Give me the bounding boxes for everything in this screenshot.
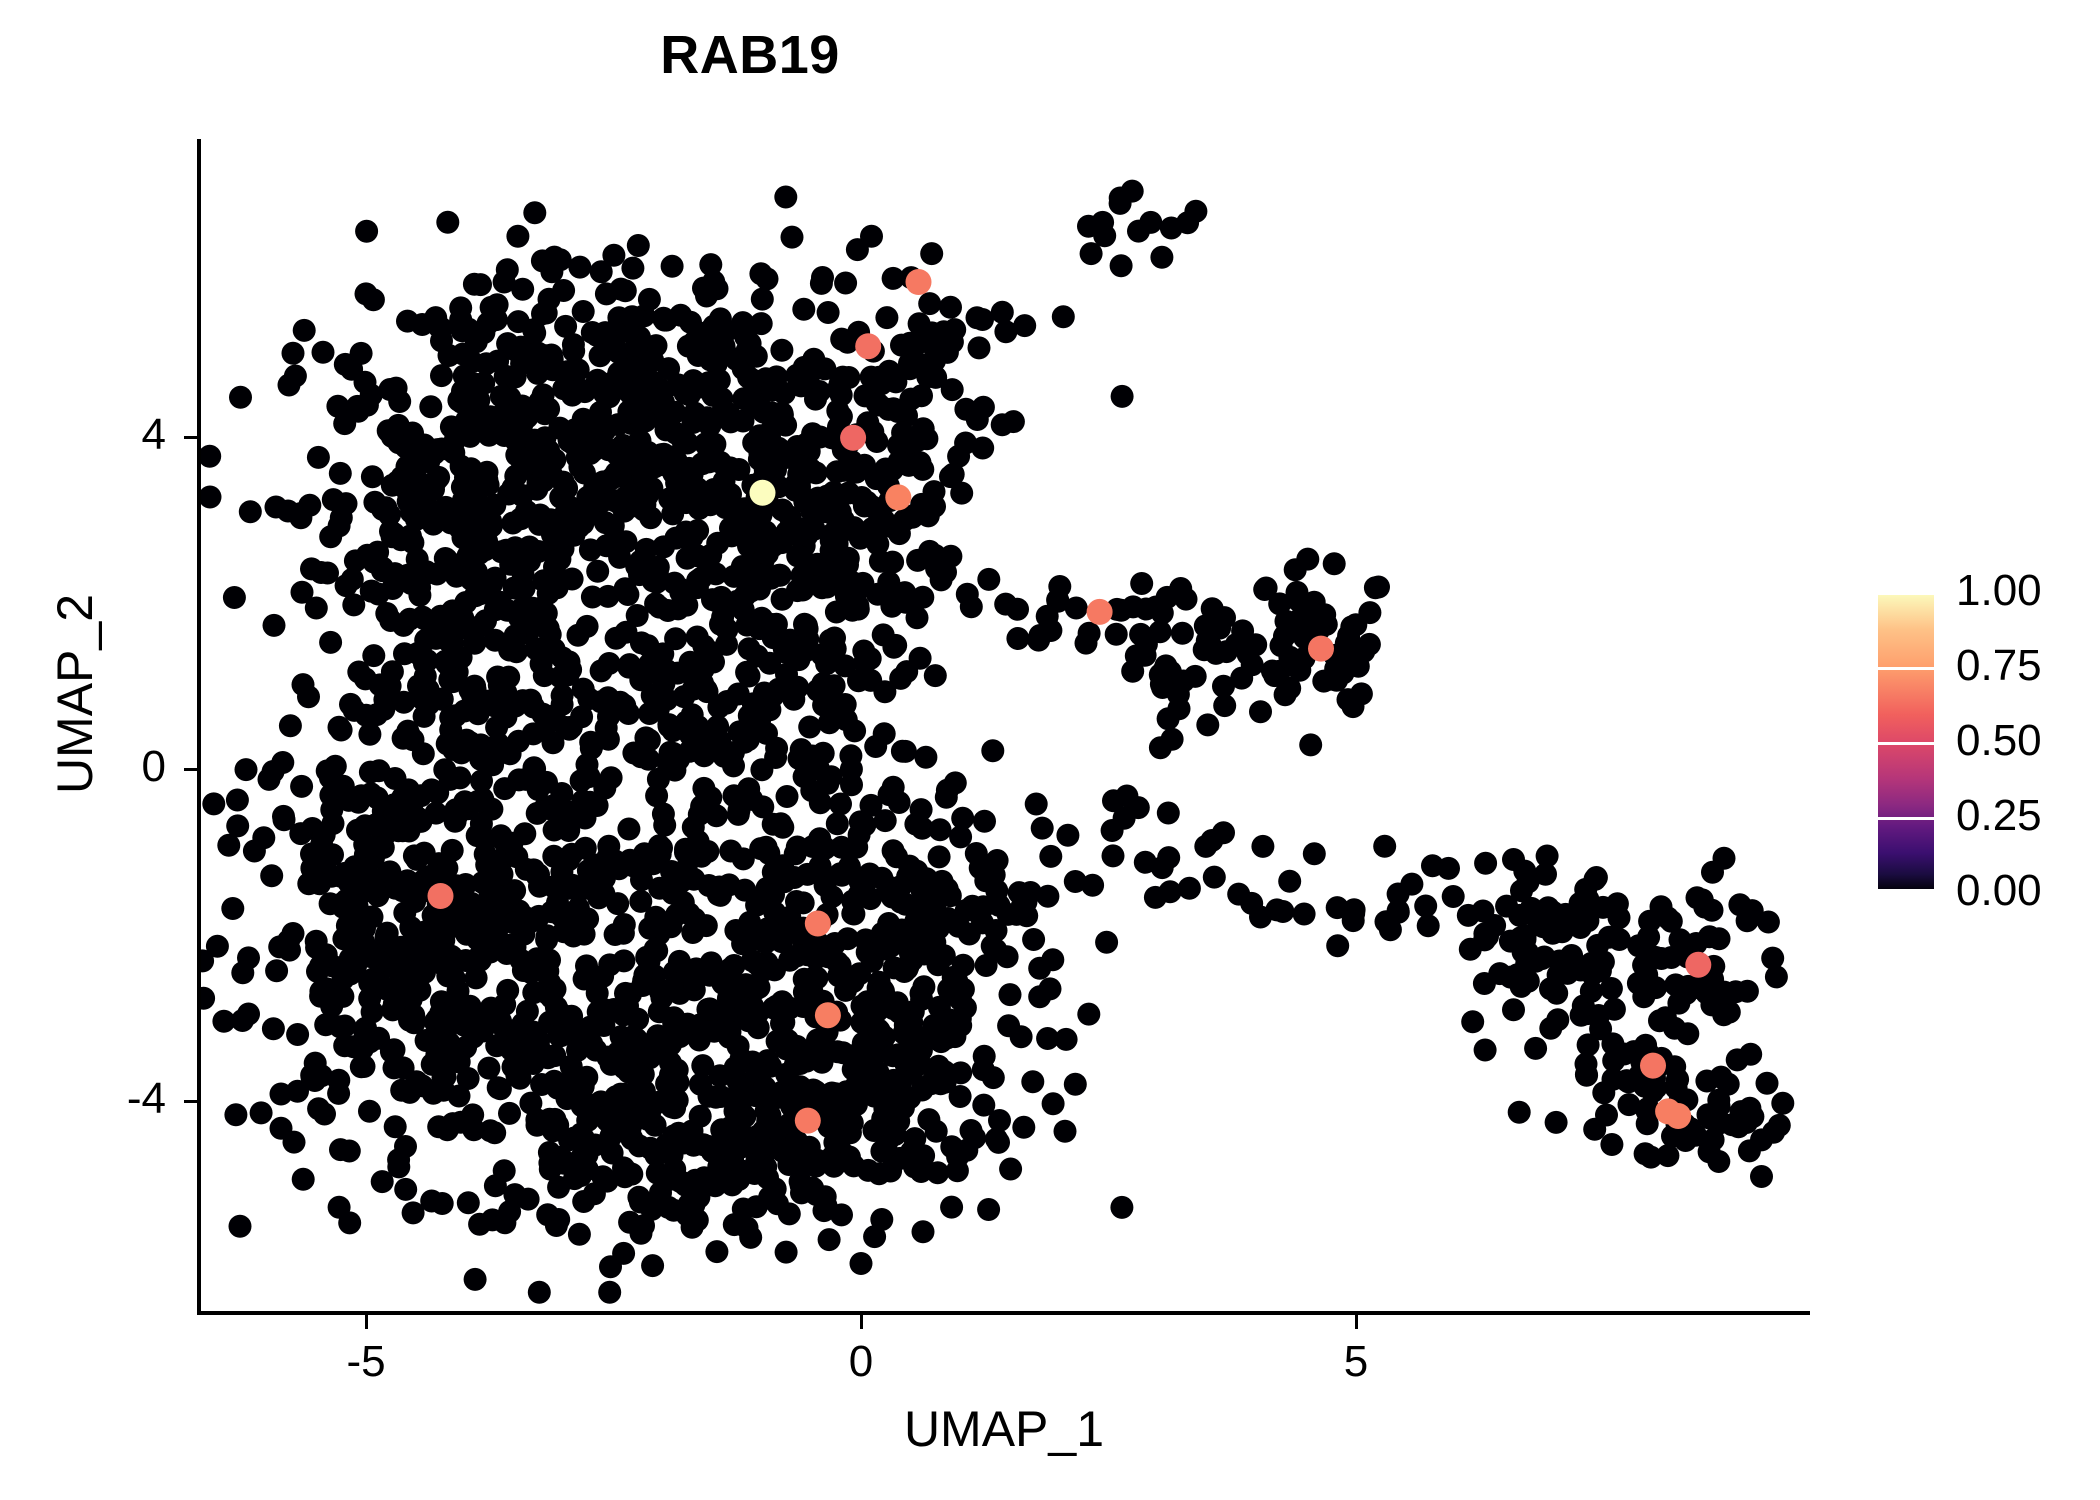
scatter-point: [1570, 1004, 1593, 1027]
scatter-point: [1554, 903, 1577, 926]
scatter-point-highlighted: [805, 911, 831, 937]
scatter-point: [873, 680, 896, 703]
scatter-point: [664, 627, 687, 650]
scatter-point: [772, 1011, 795, 1034]
scatter-point: [563, 1126, 586, 1149]
scatter-point: [737, 1009, 760, 1032]
scatter-point: [406, 642, 429, 665]
scatter-point: [576, 753, 599, 776]
scatter-point: [381, 425, 404, 448]
scatter-point: [840, 758, 863, 781]
scatter-point: [306, 960, 329, 983]
scatter-point: [1006, 598, 1029, 621]
scatter-point: [327, 1069, 350, 1092]
scatter-point: [708, 1064, 731, 1087]
scatter-point: [1502, 998, 1525, 1021]
scatter-point: [928, 845, 951, 868]
scatter-point: [1757, 911, 1780, 934]
scatter-point: [1056, 824, 1079, 847]
scatter-point: [1102, 789, 1125, 812]
scatter-point: [231, 1009, 254, 1032]
scatter-point: [891, 421, 914, 444]
x-axis-line: [197, 1311, 1810, 1315]
scatter-point: [1750, 1165, 1773, 1188]
scatter-point: [292, 1168, 315, 1191]
scatter-point: [412, 742, 435, 765]
scatter-point: [719, 957, 742, 980]
scatter-point: [453, 1014, 476, 1037]
scatter-point: [812, 1026, 835, 1049]
x-tick-mark: [1355, 1315, 1358, 1329]
scatter-point: [549, 248, 572, 271]
scatter-point: [372, 698, 395, 721]
scatter-point: [659, 1051, 682, 1074]
scatter-point: [297, 872, 320, 895]
scatter-point: [750, 504, 773, 527]
scatter-point: [522, 981, 545, 1004]
scatter-point: [1495, 895, 1518, 918]
scatter-point: [612, 359, 635, 382]
scatter-point: [899, 332, 922, 355]
scatter-point: [1514, 928, 1537, 951]
scatter-point: [1726, 1048, 1749, 1071]
scatter-point: [474, 829, 497, 852]
scatter-point: [549, 486, 572, 509]
scatter-point: [1632, 954, 1655, 977]
scatter-point: [601, 1142, 624, 1165]
scatter-point: [224, 1103, 247, 1126]
scatter-point: [459, 679, 482, 702]
scatter-point-highlighted: [1087, 599, 1113, 625]
scatter-point: [888, 791, 911, 814]
scatter-point: [1727, 1115, 1750, 1138]
scatter-point: [451, 380, 474, 403]
scatter-point: [914, 746, 937, 769]
scatter-point: [593, 777, 616, 800]
scatter-point: [693, 744, 716, 767]
scatter-point: [774, 186, 797, 209]
scatter-point: [912, 353, 935, 376]
scatter-point: [911, 458, 934, 481]
scatter-point: [1231, 619, 1254, 642]
scatter-point: [199, 445, 221, 468]
scatter-point: [479, 1119, 502, 1142]
scatter-point: [696, 840, 719, 863]
scatter-point: [605, 627, 628, 650]
scatter-point: [809, 855, 832, 878]
scatter-point: [262, 760, 285, 783]
scatter-point: [307, 1097, 330, 1120]
scatter-point: [1160, 217, 1183, 240]
colorbar-label: 0.50: [1956, 719, 2096, 763]
scatter-point: [1708, 927, 1731, 950]
scatter-point: [894, 740, 917, 763]
scatter-point: [617, 818, 640, 841]
scatter-point: [682, 678, 705, 701]
scatter-point: [798, 716, 821, 739]
scatter-point: [652, 672, 675, 695]
scatter-point: [543, 819, 566, 842]
scatter-point: [313, 823, 336, 846]
scatter-point: [759, 429, 782, 452]
scatter-point: [648, 1142, 671, 1165]
scatter-point: [848, 883, 871, 906]
y-tick-mark: [184, 768, 198, 771]
scatter-point: [560, 843, 583, 866]
scatter-point: [1713, 847, 1736, 870]
scatter-point: [690, 795, 713, 818]
scatter-point: [968, 336, 991, 359]
scatter-point: [1025, 793, 1048, 816]
scatter-point: [396, 564, 419, 587]
scatter-point: [831, 366, 854, 389]
x-axis-title: UMAP_1: [199, 1400, 1809, 1458]
scatter-point: [972, 1058, 995, 1081]
scatter-point: [788, 455, 811, 478]
scatter-point: [659, 1168, 682, 1191]
scatter-point: [586, 430, 609, 453]
scatter-point: [898, 1039, 921, 1062]
scatter-point: [572, 408, 595, 431]
scatter-point: [1036, 1027, 1059, 1050]
scatter-point: [1524, 1037, 1547, 1060]
colorbar-tick: [1878, 742, 1934, 745]
scatter-point: [949, 1085, 972, 1108]
scatter-point: [1127, 220, 1150, 243]
scatter-point: [606, 892, 629, 915]
scatter-point: [637, 480, 660, 503]
scatter-point: [1102, 844, 1125, 867]
scatter-point: [597, 728, 620, 751]
scatter-point: [733, 585, 756, 608]
scatter-point: [636, 634, 659, 657]
scatter-point: [576, 615, 599, 638]
scatter-point: [1144, 886, 1167, 909]
scatter-point: [358, 1031, 381, 1054]
scatter-point-highlighted: [885, 484, 911, 510]
scatter-point: [733, 1124, 756, 1147]
scatter-point: [316, 847, 339, 870]
scatter-point: [1149, 620, 1172, 643]
scatter-point: [665, 449, 688, 472]
scatter-point: [571, 379, 594, 402]
scatter-point: [686, 519, 709, 542]
scatter-point: [661, 978, 684, 1001]
scatter-point: [832, 509, 855, 532]
scatter-point: [310, 561, 333, 584]
plot-panel: [199, 140, 1809, 1313]
scatter-point: [705, 1240, 728, 1263]
colorbar-label: 1.00: [1956, 569, 2096, 613]
scatter-point: [1168, 697, 1191, 720]
scatter-point: [1080, 242, 1103, 265]
scatter-point: [737, 366, 760, 389]
scatter-point: [939, 296, 962, 319]
scatter-point: [527, 540, 550, 563]
scatter-point: [268, 935, 291, 958]
scatter-point: [909, 647, 932, 670]
scatter-point: [875, 306, 898, 329]
scatter-point: [940, 1135, 963, 1158]
scatter-point: [221, 897, 244, 920]
scatter-point: [329, 462, 352, 485]
scatter-point: [506, 225, 529, 248]
scatter-point: [830, 836, 853, 859]
scatter-point: [999, 983, 1022, 1006]
scatter-point: [824, 1082, 847, 1105]
scatter-point: [390, 936, 413, 959]
scatter-point: [511, 395, 534, 418]
scatter-point-highlighted: [1308, 636, 1334, 662]
scatter-point: [436, 211, 459, 234]
scatter-point: [384, 1115, 407, 1138]
scatter-point: [906, 549, 929, 572]
scatter-point: [523, 756, 546, 779]
scatter-point: [338, 1140, 361, 1163]
scatter-point: [829, 793, 852, 816]
scatter-point: [1249, 700, 1272, 723]
scatter-point: [1213, 694, 1236, 717]
scatter-point: [367, 583, 390, 606]
scatter-point: [521, 450, 544, 473]
scatter-point: [413, 842, 436, 865]
scatter-point: [598, 385, 621, 408]
scatter-point: [1054, 1120, 1077, 1143]
scatter-point: [1313, 603, 1336, 626]
scatter-point: [335, 574, 358, 597]
scatter-point: [1337, 688, 1360, 711]
scatter-point: [1130, 572, 1153, 595]
scatter-point: [472, 372, 495, 395]
scatter-point: [949, 1061, 972, 1084]
scatter-point-highlighted: [906, 269, 932, 295]
scatter-point: [464, 901, 487, 924]
scatter-point: [603, 849, 626, 872]
scatter-point: [1129, 623, 1152, 646]
scatter-point: [1184, 200, 1207, 223]
scatter-point: [824, 637, 847, 660]
scatter-point: [1600, 1133, 1623, 1156]
scatter-point: [356, 835, 379, 858]
y-axis-title: UMAP_2: [46, 334, 104, 1054]
scatter-point: [1212, 821, 1235, 844]
scatter-point: [424, 306, 447, 329]
scatter-point: [235, 758, 258, 781]
scatter-point: [293, 319, 316, 342]
color-legend: 1.00 0.75 0.50 0.25 0.00: [1878, 592, 2088, 912]
scatter-point: [850, 1252, 873, 1275]
scatter-point: [265, 959, 288, 982]
scatter-point: [1042, 1092, 1065, 1115]
scatter-point: [1039, 845, 1062, 868]
scatter-point: [789, 1149, 812, 1172]
scatter-point: [946, 1159, 969, 1182]
y-tick-mark: [184, 436, 198, 439]
scatter-canvas: [199, 140, 1809, 1313]
scatter-point: [278, 374, 301, 397]
scatter-point: [864, 735, 887, 758]
scatter-point: [439, 706, 462, 729]
scatter-point: [511, 278, 534, 301]
scatter-point: [573, 877, 596, 900]
scatter-point-highlighted: [855, 333, 881, 359]
scatter-point: [510, 949, 533, 972]
scatter-point: [853, 651, 876, 674]
scatter-point: [635, 538, 658, 561]
scatter-point: [668, 1025, 691, 1048]
scatter-point: [1052, 305, 1075, 328]
scatter-point: [1241, 653, 1264, 676]
scatter-point: [532, 383, 555, 406]
scatter-point: [697, 371, 720, 394]
scatter-point: [1618, 1093, 1641, 1116]
scatter-point: [1278, 870, 1301, 893]
scatter-point: [547, 1208, 570, 1231]
scatter-point: [641, 1254, 664, 1277]
scatter-point: [494, 681, 517, 704]
scatter-point: [746, 645, 769, 668]
scatter-point: [835, 708, 858, 731]
scatter-point: [653, 309, 676, 332]
scatter-point-highlighted: [840, 425, 866, 451]
scatter-point: [489, 591, 512, 614]
scatter-point: [575, 954, 598, 977]
scatter-point: [319, 631, 342, 654]
scatter-point: [845, 461, 868, 484]
scatter-point: [314, 1013, 337, 1036]
scatter-point: [817, 301, 840, 324]
scatter-point: [888, 1001, 911, 1024]
scatter-point: [535, 602, 558, 625]
scatter-point: [1601, 1032, 1624, 1055]
scatter-point: [713, 745, 736, 768]
scatter-point: [561, 568, 584, 591]
scatter-point: [557, 663, 580, 686]
scatter-point: [972, 1094, 995, 1117]
scatter-point: [449, 308, 472, 331]
scatter-point: [354, 667, 377, 690]
scatter-point: [1656, 906, 1679, 929]
scatter-point: [745, 345, 768, 368]
scatter-point: [1602, 1068, 1625, 1091]
scatter-point: [626, 604, 649, 627]
scatter-point: [882, 839, 905, 862]
scatter-point: [368, 759, 391, 782]
scatter-point: [434, 547, 457, 570]
scatter-point: [872, 1090, 895, 1113]
scatter-point: [776, 785, 799, 808]
scatter-point: [400, 501, 423, 524]
scatter-point: [870, 372, 893, 395]
scatter-point: [385, 377, 408, 400]
scatter-point: [522, 722, 545, 745]
scatter-point: [532, 569, 555, 592]
scatter-point: [699, 348, 722, 371]
scatter-point: [1461, 1010, 1484, 1033]
scatter-point: [901, 949, 924, 972]
scatter-point: [821, 885, 844, 908]
scatter-point: [987, 1131, 1010, 1154]
scatter-point: [1150, 246, 1173, 269]
scatter-point: [361, 465, 384, 488]
scatter-point: [986, 849, 1009, 872]
scatter-point: [865, 430, 888, 453]
scatter-point: [756, 267, 779, 290]
scatter-point: [1472, 900, 1495, 923]
scatter-point: [661, 502, 684, 525]
scatter-point: [1637, 926, 1660, 949]
scatter-point: [354, 371, 377, 394]
scatter-point: [531, 302, 554, 325]
scatter-point: [262, 1017, 285, 1040]
scatter-point: [1474, 852, 1497, 875]
scatter-point: [761, 613, 784, 636]
scatter-point: [540, 900, 563, 923]
scatter-point: [1765, 965, 1788, 988]
scatter-point: [402, 1201, 425, 1224]
scatter-point: [775, 1241, 798, 1264]
scatter-point: [542, 794, 565, 817]
scatter-point: [759, 1104, 782, 1127]
scatter-point: [608, 546, 631, 569]
scatter-point: [338, 1211, 361, 1234]
scatter-point: [679, 311, 702, 334]
scatter-point: [804, 388, 827, 411]
scatter-point: [567, 358, 590, 381]
scatter-point: [1286, 581, 1309, 604]
scatter-point: [912, 1220, 935, 1243]
scatter-point: [381, 660, 404, 683]
scatter-point: [733, 879, 756, 902]
scatter-point: [392, 1056, 415, 1079]
scatter-point: [1323, 552, 1346, 575]
scatter-point: [801, 1177, 824, 1200]
scatter-point: [666, 1089, 689, 1112]
scatter-point: [289, 822, 312, 845]
scatter-point: [645, 784, 668, 807]
scatter-point: [469, 273, 492, 296]
scatter-point: [199, 987, 215, 1010]
colorbar-tick: [1878, 667, 1934, 670]
scatter-point: [792, 298, 815, 321]
scatter-point: [765, 737, 788, 760]
scatter-point: [825, 1152, 848, 1175]
scatter-point: [763, 448, 786, 471]
scatter-point: [721, 1173, 744, 1196]
scatter-point: [243, 840, 266, 863]
scatter-point: [272, 805, 295, 828]
scatter-point: [1713, 981, 1736, 1004]
scatter-point: [475, 468, 498, 491]
scatter-point: [1012, 1116, 1035, 1139]
scatter-point: [1031, 817, 1054, 840]
scatter-point: [562, 333, 585, 356]
scatter-point: [358, 723, 381, 746]
scatter-point: [226, 789, 249, 812]
scatter-point: [920, 242, 943, 265]
scatter-point: [586, 560, 609, 583]
scatter-point-highlighted: [1665, 1103, 1691, 1129]
scatter-point: [1022, 928, 1045, 951]
scatter-point: [493, 777, 516, 800]
scatter-point: [638, 1102, 661, 1125]
scatter-point: [947, 915, 970, 938]
scatter-point: [656, 599, 679, 622]
scatter-point: [698, 997, 721, 1020]
scatter-point: [343, 898, 366, 921]
scatter-point: [364, 813, 387, 836]
scatter-point: [1335, 632, 1358, 655]
